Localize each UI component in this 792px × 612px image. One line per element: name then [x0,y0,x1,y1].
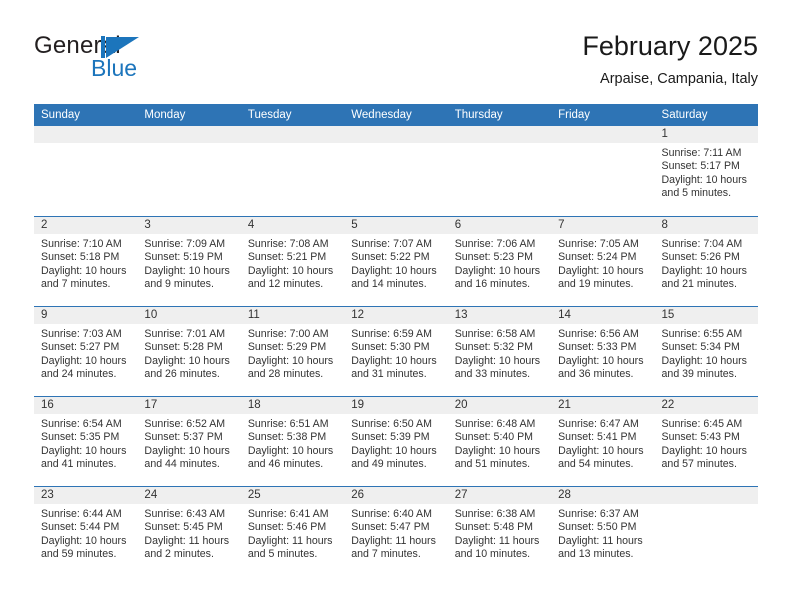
page-title: February 2025 [582,30,758,62]
day-details: Sunrise: 7:09 AMSunset: 5:19 PMDaylight:… [137,234,240,292]
day-number: 14 [551,307,654,324]
daylight-text: Daylight: 10 hours and 21 minutes. [662,265,751,292]
day-number: 17 [137,397,240,414]
day-number: 25 [241,487,344,504]
weekday-header-sunday: Sunday [34,104,137,126]
calendar-week-row: 9Sunrise: 7:03 AMSunset: 5:27 PMDaylight… [34,306,758,396]
daylight-text: Daylight: 10 hours and 14 minutes. [351,265,440,292]
calendar-day-cell[interactable]: 15Sunrise: 6:55 AMSunset: 5:34 PMDayligh… [655,307,758,396]
calendar-page: General Blue February 2025 Arpaise, Camp… [0,0,792,612]
sunrise-text: Sunrise: 6:51 AM [248,418,337,431]
day-details: Sunrise: 7:04 AMSunset: 5:26 PMDaylight:… [655,234,758,292]
sunset-text: Sunset: 5:39 PM [351,431,440,444]
sunset-text: Sunset: 5:48 PM [455,521,544,534]
day-details: Sunrise: 6:52 AMSunset: 5:37 PMDaylight:… [137,414,240,472]
calendar-day-cell[interactable]: 19Sunrise: 6:50 AMSunset: 5:39 PMDayligh… [344,397,447,486]
daylight-text: Daylight: 10 hours and 51 minutes. [455,445,544,472]
day-number [137,126,240,143]
sunset-text: Sunset: 5:26 PM [662,251,751,264]
page-header: General Blue February 2025 Arpaise, Camp… [34,30,758,96]
sunset-text: Sunset: 5:28 PM [144,341,233,354]
daylight-text: Daylight: 10 hours and 31 minutes. [351,355,440,382]
day-details: Sunrise: 6:59 AMSunset: 5:30 PMDaylight:… [344,324,447,382]
day-details: Sunrise: 6:48 AMSunset: 5:40 PMDaylight:… [448,414,551,472]
day-details: Sunrise: 6:50 AMSunset: 5:39 PMDaylight:… [344,414,447,472]
calendar-day-cell[interactable]: 28Sunrise: 6:37 AMSunset: 5:50 PMDayligh… [551,487,654,576]
day-number: 9 [34,307,137,324]
day-details: Sunrise: 6:54 AMSunset: 5:35 PMDaylight:… [34,414,137,472]
sunset-text: Sunset: 5:32 PM [455,341,544,354]
daylight-text: Daylight: 10 hours and 59 minutes. [41,535,130,562]
daylight-text: Daylight: 11 hours and 2 minutes. [144,535,233,562]
sunrise-text: Sunrise: 7:01 AM [144,328,233,341]
day-details: Sunrise: 6:37 AMSunset: 5:50 PMDaylight:… [551,504,654,562]
calendar-day-cell[interactable]: 23Sunrise: 6:44 AMSunset: 5:44 PMDayligh… [34,487,137,576]
day-number: 7 [551,217,654,234]
sunrise-text: Sunrise: 7:03 AM [41,328,130,341]
day-number: 21 [551,397,654,414]
sunrise-text: Sunrise: 7:06 AM [455,238,544,251]
day-number [34,126,137,143]
sunrise-text: Sunrise: 7:07 AM [351,238,440,251]
daylight-text: Daylight: 10 hours and 54 minutes. [558,445,647,472]
sunrise-text: Sunrise: 6:48 AM [455,418,544,431]
day-details: Sunrise: 7:00 AMSunset: 5:29 PMDaylight:… [241,324,344,382]
day-number: 3 [137,217,240,234]
daylight-text: Daylight: 10 hours and 44 minutes. [144,445,233,472]
sunset-text: Sunset: 5:23 PM [455,251,544,264]
sunset-text: Sunset: 5:18 PM [41,251,130,264]
day-number: 26 [344,487,447,504]
general-blue-logo[interactable]: General Blue [34,32,244,88]
day-details: Sunrise: 6:43 AMSunset: 5:45 PMDaylight:… [137,504,240,562]
daylight-text: Daylight: 10 hours and 16 minutes. [455,265,544,292]
sunset-text: Sunset: 5:40 PM [455,431,544,444]
day-number: 5 [344,217,447,234]
day-number [344,126,447,143]
day-number: 19 [344,397,447,414]
daylight-text: Daylight: 11 hours and 5 minutes. [248,535,337,562]
day-number: 13 [448,307,551,324]
sunset-text: Sunset: 5:37 PM [144,431,233,444]
sunrise-text: Sunrise: 6:55 AM [662,328,751,341]
daylight-text: Daylight: 10 hours and 36 minutes. [558,355,647,382]
day-details: Sunrise: 6:44 AMSunset: 5:44 PMDaylight:… [34,504,137,562]
daylight-text: Daylight: 11 hours and 10 minutes. [455,535,544,562]
weekday-header-saturday: Saturday [655,104,758,126]
daylight-text: Daylight: 10 hours and 7 minutes. [41,265,130,292]
weekday-header-monday: Monday [137,104,240,126]
day-number: 16 [34,397,137,414]
sunrise-text: Sunrise: 6:38 AM [455,508,544,521]
calendar-day-cell[interactable]: 27Sunrise: 6:38 AMSunset: 5:48 PMDayligh… [448,487,551,576]
day-number: 12 [344,307,447,324]
sunset-text: Sunset: 5:35 PM [41,431,130,444]
sunrise-text: Sunrise: 7:09 AM [144,238,233,251]
calendar-day-cell[interactable]: 13Sunrise: 6:58 AMSunset: 5:32 PMDayligh… [448,307,551,396]
day-details: Sunrise: 7:11 AMSunset: 5:17 PMDaylight:… [655,143,758,201]
sunrise-text: Sunrise: 6:58 AM [455,328,544,341]
weekday-header-wednesday: Wednesday [344,104,447,126]
sunrise-text: Sunrise: 6:40 AM [351,508,440,521]
sunrise-text: Sunrise: 6:43 AM [144,508,233,521]
day-details: Sunrise: 6:38 AMSunset: 5:48 PMDaylight:… [448,504,551,562]
day-number: 8 [655,217,758,234]
sunset-text: Sunset: 5:45 PM [144,521,233,534]
day-number: 15 [655,307,758,324]
calendar-week-row: 23Sunrise: 6:44 AMSunset: 5:44 PMDayligh… [34,486,758,576]
sunrise-text: Sunrise: 6:52 AM [144,418,233,431]
day-details: Sunrise: 7:06 AMSunset: 5:23 PMDaylight:… [448,234,551,292]
sunset-text: Sunset: 5:22 PM [351,251,440,264]
daylight-text: Daylight: 10 hours and 57 minutes. [662,445,751,472]
title-block: February 2025 Arpaise, Campania, Italy [582,30,758,90]
sunrise-text: Sunrise: 7:00 AM [248,328,337,341]
day-number: 11 [241,307,344,324]
sunset-text: Sunset: 5:29 PM [248,341,337,354]
calendar-day-cell[interactable]: 26Sunrise: 6:40 AMSunset: 5:47 PMDayligh… [344,487,447,576]
day-number: 20 [448,397,551,414]
daylight-text: Daylight: 10 hours and 9 minutes. [144,265,233,292]
weekday-header-tuesday: Tuesday [241,104,344,126]
day-number: 18 [241,397,344,414]
day-number: 22 [655,397,758,414]
sunrise-text: Sunrise: 6:41 AM [248,508,337,521]
sunrise-text: Sunrise: 7:05 AM [558,238,647,251]
sunrise-text: Sunrise: 6:54 AM [41,418,130,431]
calendar-day-cell[interactable]: 17Sunrise: 6:52 AMSunset: 5:37 PMDayligh… [137,397,240,486]
logo-text-blue: Blue [91,55,137,82]
daylight-text: Daylight: 10 hours and 39 minutes. [662,355,751,382]
day-details: Sunrise: 7:01 AMSunset: 5:28 PMDaylight:… [137,324,240,382]
weekday-header-thursday: Thursday [448,104,551,126]
sunrise-text: Sunrise: 6:47 AM [558,418,647,431]
day-number: 28 [551,487,654,504]
sunset-text: Sunset: 5:47 PM [351,521,440,534]
sunrise-text: Sunrise: 6:56 AM [558,328,647,341]
calendar-day-cell[interactable]: 4Sunrise: 7:08 AMSunset: 5:21 PMDaylight… [241,217,344,306]
calendar-week-row: 16Sunrise: 6:54 AMSunset: 5:35 PMDayligh… [34,396,758,486]
sunset-text: Sunset: 5:38 PM [248,431,337,444]
sunrise-text: Sunrise: 7:10 AM [41,238,130,251]
calendar-day-cell[interactable]: 12Sunrise: 6:59 AMSunset: 5:30 PMDayligh… [344,307,447,396]
calendar-day-cell[interactable]: 21Sunrise: 6:47 AMSunset: 5:41 PMDayligh… [551,397,654,486]
day-details: Sunrise: 7:03 AMSunset: 5:27 PMDaylight:… [34,324,137,382]
day-details: Sunrise: 6:45 AMSunset: 5:43 PMDaylight:… [655,414,758,472]
sunset-text: Sunset: 5:34 PM [662,341,751,354]
day-details: Sunrise: 6:56 AMSunset: 5:33 PMDaylight:… [551,324,654,382]
calendar-day-cell[interactable]: 10Sunrise: 7:01 AMSunset: 5:28 PMDayligh… [137,307,240,396]
daylight-text: Daylight: 10 hours and 46 minutes. [248,445,337,472]
calendar-day-cell-empty [344,126,447,216]
calendar-day-cell[interactable]: 11Sunrise: 7:00 AMSunset: 5:29 PMDayligh… [241,307,344,396]
daylight-text: Daylight: 11 hours and 13 minutes. [558,535,647,562]
daylight-text: Daylight: 10 hours and 41 minutes. [41,445,130,472]
sunrise-text: Sunrise: 7:11 AM [662,147,751,160]
sunrise-text: Sunrise: 6:50 AM [351,418,440,431]
day-details: Sunrise: 6:47 AMSunset: 5:41 PMDaylight:… [551,414,654,472]
calendar-grid: SundayMondayTuesdayWednesdayThursdayFrid… [34,104,758,576]
calendar-day-cell[interactable]: 16Sunrise: 6:54 AMSunset: 5:35 PMDayligh… [34,397,137,486]
calendar-week-row: 1Sunrise: 7:11 AMSunset: 5:17 PMDaylight… [34,126,758,216]
calendar-day-cell[interactable]: 3Sunrise: 7:09 AMSunset: 5:19 PMDaylight… [137,217,240,306]
calendar-day-cell[interactable]: 18Sunrise: 6:51 AMSunset: 5:38 PMDayligh… [241,397,344,486]
day-details: Sunrise: 7:05 AMSunset: 5:24 PMDaylight:… [551,234,654,292]
day-number [448,126,551,143]
day-details: Sunrise: 6:51 AMSunset: 5:38 PMDaylight:… [241,414,344,472]
sunset-text: Sunset: 5:41 PM [558,431,647,444]
calendar-day-cell-empty [34,126,137,216]
daylight-text: Daylight: 10 hours and 12 minutes. [248,265,337,292]
sunrise-text: Sunrise: 6:44 AM [41,508,130,521]
day-number [551,126,654,143]
day-number: 23 [34,487,137,504]
calendar-day-cell[interactable]: 7Sunrise: 7:05 AMSunset: 5:24 PMDaylight… [551,217,654,306]
daylight-text: Daylight: 10 hours and 49 minutes. [351,445,440,472]
sunset-text: Sunset: 5:24 PM [558,251,647,264]
day-details: Sunrise: 7:07 AMSunset: 5:22 PMDaylight:… [344,234,447,292]
sunset-text: Sunset: 5:19 PM [144,251,233,264]
calendar-day-cell-empty [655,487,758,576]
day-number: 2 [34,217,137,234]
calendar-day-cell[interactable]: 24Sunrise: 6:43 AMSunset: 5:45 PMDayligh… [137,487,240,576]
day-number: 24 [137,487,240,504]
weekday-header-row: SundayMondayTuesdayWednesdayThursdayFrid… [34,104,758,126]
daylight-text: Daylight: 10 hours and 28 minutes. [248,355,337,382]
sunset-text: Sunset: 5:27 PM [41,341,130,354]
sunset-text: Sunset: 5:17 PM [662,160,751,173]
sunrise-text: Sunrise: 6:37 AM [558,508,647,521]
calendar-day-cell[interactable]: 14Sunrise: 6:56 AMSunset: 5:33 PMDayligh… [551,307,654,396]
calendar-day-cell[interactable]: 20Sunrise: 6:48 AMSunset: 5:40 PMDayligh… [448,397,551,486]
sunset-text: Sunset: 5:21 PM [248,251,337,264]
calendar-day-cell[interactable]: 8Sunrise: 7:04 AMSunset: 5:26 PMDaylight… [655,217,758,306]
day-details: Sunrise: 6:40 AMSunset: 5:47 PMDaylight:… [344,504,447,562]
day-details: Sunrise: 7:10 AMSunset: 5:18 PMDaylight:… [34,234,137,292]
weekday-header-friday: Friday [551,104,654,126]
page-subtitle: Arpaise, Campania, Italy [582,68,758,90]
day-number: 1 [655,126,758,143]
sunrise-text: Sunrise: 7:04 AM [662,238,751,251]
sunrise-text: Sunrise: 6:45 AM [662,418,751,431]
calendar-day-cell[interactable]: 22Sunrise: 6:45 AMSunset: 5:43 PMDayligh… [655,397,758,486]
calendar-day-cell[interactable]: 25Sunrise: 6:41 AMSunset: 5:46 PMDayligh… [241,487,344,576]
day-details: Sunrise: 6:58 AMSunset: 5:32 PMDaylight:… [448,324,551,382]
sunset-text: Sunset: 5:30 PM [351,341,440,354]
calendar-day-cell[interactable]: 9Sunrise: 7:03 AMSunset: 5:27 PMDaylight… [34,307,137,396]
calendar-week-row: 2Sunrise: 7:10 AMSunset: 5:18 PMDaylight… [34,216,758,306]
sunset-text: Sunset: 5:46 PM [248,521,337,534]
sunset-text: Sunset: 5:44 PM [41,521,130,534]
day-details: Sunrise: 6:55 AMSunset: 5:34 PMDaylight:… [655,324,758,382]
daylight-text: Daylight: 10 hours and 5 minutes. [662,174,751,201]
sunset-text: Sunset: 5:43 PM [662,431,751,444]
daylight-text: Daylight: 10 hours and 19 minutes. [558,265,647,292]
day-number: 27 [448,487,551,504]
daylight-text: Daylight: 10 hours and 26 minutes. [144,355,233,382]
calendar-day-cell[interactable]: 5Sunrise: 7:07 AMSunset: 5:22 PMDaylight… [344,217,447,306]
day-details: Sunrise: 6:41 AMSunset: 5:46 PMDaylight:… [241,504,344,562]
sunrise-text: Sunrise: 6:59 AM [351,328,440,341]
calendar-day-cell[interactable]: 6Sunrise: 7:06 AMSunset: 5:23 PMDaylight… [448,217,551,306]
day-number: 4 [241,217,344,234]
daylight-text: Daylight: 10 hours and 33 minutes. [455,355,544,382]
calendar-day-cell-empty [448,126,551,216]
calendar-day-cell[interactable]: 2Sunrise: 7:10 AMSunset: 5:18 PMDaylight… [34,217,137,306]
calendar-day-cell-empty [551,126,654,216]
day-number [241,126,344,143]
daylight-text: Daylight: 11 hours and 7 minutes. [351,535,440,562]
sunrise-text: Sunrise: 7:08 AM [248,238,337,251]
day-number [655,487,758,504]
day-number: 10 [137,307,240,324]
sunset-text: Sunset: 5:50 PM [558,521,647,534]
calendar-weeks: 1Sunrise: 7:11 AMSunset: 5:17 PMDaylight… [34,126,758,576]
sunset-text: Sunset: 5:33 PM [558,341,647,354]
day-number: 6 [448,217,551,234]
daylight-text: Daylight: 10 hours and 24 minutes. [41,355,130,382]
calendar-day-cell[interactable]: 1Sunrise: 7:11 AMSunset: 5:17 PMDaylight… [655,126,758,216]
calendar-day-cell-empty [241,126,344,216]
day-details: Sunrise: 7:08 AMSunset: 5:21 PMDaylight:… [241,234,344,292]
calendar-day-cell-empty [137,126,240,216]
